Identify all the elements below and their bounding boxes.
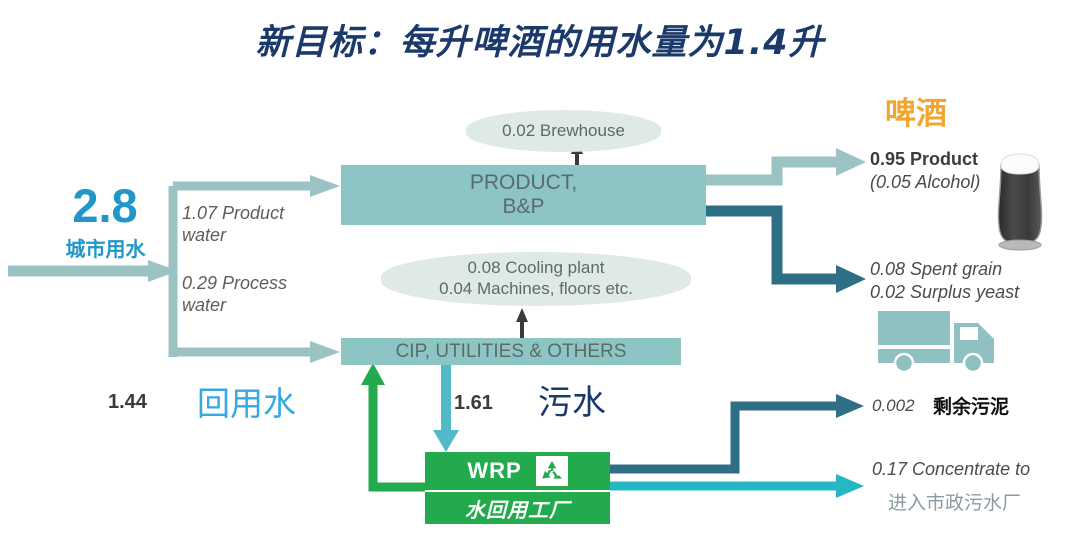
output-sludge-value: 0.002	[872, 396, 915, 416]
process-box-product-line2: B&P	[502, 195, 544, 219]
note-product-water: 1.07 Product water	[182, 203, 332, 246]
metric-reuse-label: 回用水	[197, 377, 296, 425]
source-value: 2.8	[40, 182, 170, 229]
wrp-chinese-label: 水回用工厂	[425, 492, 610, 524]
cloud-utilities-line1: 0.08 Cooling plant	[467, 258, 604, 279]
diagram-canvas: 新目标：每升啤酒的用水量为1.4升 2.8 城市用水 1.07 Product …	[0, 0, 1080, 537]
note-product-water-line1: 1.07 Product	[182, 203, 332, 225]
truck-icon	[876, 305, 1006, 371]
cloud-utilities-line2: 0.04 Machines, floors etc.	[439, 279, 633, 300]
source-label: 城市用水	[28, 233, 183, 262]
output-surplus-yeast: 0.02 Surplus yeast	[870, 281, 1075, 304]
page-title: 新目标：每升啤酒的用水量为1.4升	[0, 14, 1080, 65]
output-concentrate-chinese: 进入市政污水厂	[888, 488, 1080, 515]
beer-heading: 啤酒	[885, 88, 1005, 133]
arrow-concentrate-output	[610, 474, 864, 498]
note-process-water-line1: 0.29 Process	[182, 273, 332, 295]
arrow-sludge-output	[610, 394, 864, 469]
note-process-water: 0.29 Process water	[182, 273, 332, 316]
cloud-brewhouse-loss: 0.02 Brewhouse	[466, 110, 661, 152]
arrow-product-water	[173, 175, 340, 197]
note-process-water-line2: water	[182, 295, 332, 317]
output-spent-grain: 0.08 Spent grain	[870, 258, 1075, 281]
process-box-product: PRODUCT, B&P	[341, 165, 706, 225]
cloud-utilities-loss: 0.08 Cooling plant 0.04 Machines, floors…	[381, 252, 691, 306]
arrow-beer-output	[703, 148, 866, 180]
arrow-utilities-loss	[516, 308, 528, 338]
output-concentrate: 0.17 Concentrate to	[872, 459, 1080, 480]
recycle-icon	[536, 456, 568, 486]
note-product-water-line2: water	[182, 225, 332, 247]
arrow-reuse-water-1-44	[361, 363, 425, 487]
wrp-box: WRP 水回用工厂	[425, 452, 610, 524]
arrow-city-water-inflow	[8, 260, 178, 282]
arrow-process-water	[173, 341, 340, 363]
cloud-brewhouse-text: 0.02 Brewhouse	[502, 121, 625, 142]
metric-reuse-value: 1.44	[108, 391, 147, 414]
metric-wastewater-value: 1.61	[454, 392, 493, 415]
wrp-acronym: WRP	[467, 458, 521, 484]
output-byproducts: 0.08 Spent grain 0.02 Surplus yeast	[870, 258, 1075, 304]
beer-glass-icon	[985, 152, 1055, 252]
arrow-spent-grain-output	[703, 211, 866, 293]
output-sludge-label: 剩余污泥	[933, 392, 1009, 419]
process-box-product-line1: PRODUCT,	[470, 171, 577, 195]
process-box-cip: CIP, UTILITIES & OTHERS	[341, 338, 681, 365]
wrp-header: WRP	[425, 452, 610, 490]
metric-wastewater-label: 污水	[538, 375, 606, 424]
